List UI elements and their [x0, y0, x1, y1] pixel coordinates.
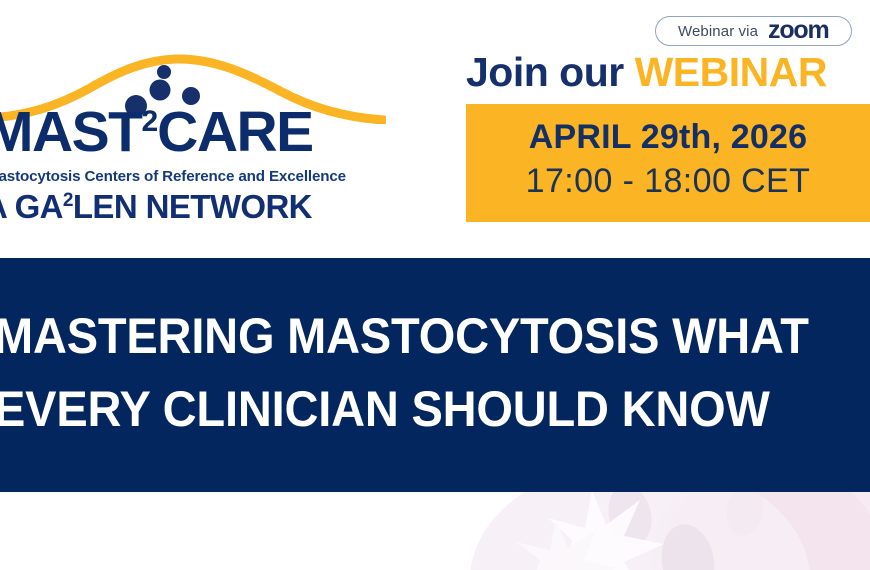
logo-network-prefix: A GA [0, 188, 63, 225]
title-bar: MASTERING MASTOCYTOSIS WHAT EVERY CLINIC… [0, 258, 870, 492]
mast2care-logo: MAST2CARE Mastocytosis Centers of Refere… [0, 46, 386, 230]
logo-wordmark-superscript: 2 [141, 105, 157, 138]
headline-join-our: Join our [466, 49, 635, 95]
logo-network-suffix: LEN NETWORK [73, 188, 312, 225]
webinar-date: APRIL 29th, 2026 [466, 118, 870, 156]
webinar-title-line-2: EVERY CLINICIAN SHOULD KNOW [0, 373, 831, 446]
webinar-time: 17:00 - 18:00 CET [466, 160, 870, 203]
webinar-via-zoom-badge[interactable]: Webinar via zoom [655, 16, 852, 46]
headline: Join our WEBINAR [466, 52, 827, 93]
zoom-logo: zoom [768, 18, 828, 43]
webinar-title: MASTERING MASTOCYTOSIS WHAT EVERY CLINIC… [0, 300, 831, 446]
logo-wordmark: MAST2CARE [0, 104, 386, 161]
zoom-badge-label: Webinar via [678, 23, 758, 40]
webinar-title-line-1: MASTERING MASTOCYTOSIS WHAT [0, 300, 831, 373]
logo-subtitle: Mastocytosis Centers of Reference and Ex… [0, 168, 386, 185]
logo-wordmark-care: CARE [157, 100, 313, 164]
headline-webinar: WEBINAR [635, 49, 827, 95]
logo-network-line: A GA2LEN NETWORK [0, 190, 384, 223]
webinar-promo-banner: MAST2CARE Mastocytosis Centers of Refere… [0, 0, 870, 570]
logo-network-superscript: 2 [63, 190, 73, 211]
date-time-panel: APRIL 29th, 2026 17:00 - 18:00 CET [466, 104, 870, 222]
logo-wordmark-mast: MAST [0, 100, 141, 164]
